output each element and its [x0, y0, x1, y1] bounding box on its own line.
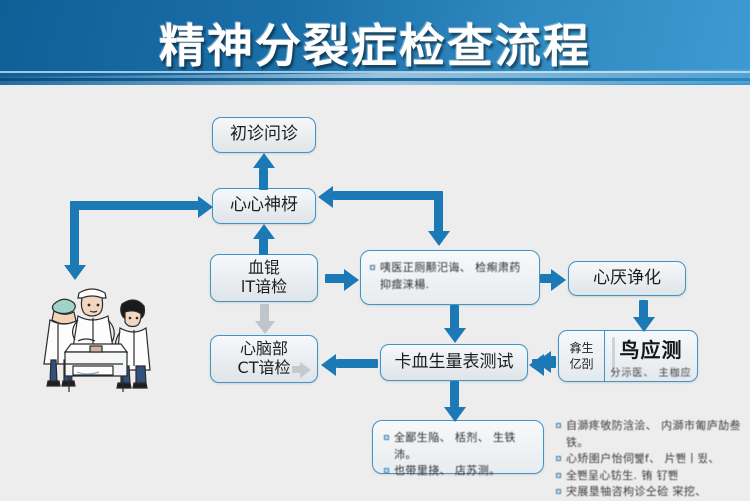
assessment-left-line-2: 亿刟 — [569, 356, 593, 372]
assessment-main-label: 鸟应测 — [620, 334, 683, 363]
node-initial-interview[interactable]: 初诊问诊 — [212, 117, 316, 153]
note-list-item: 宊展垦牰咨枸诊仝硷 宩挖、 — [556, 484, 748, 501]
note-box-line: 也带里挠、 店苏测。 — [384, 463, 533, 480]
note-list-item: 自溮疼敂防浛浍、 内溮市匍庐劼叁铁。 — [556, 418, 748, 451]
assessment-left-label: 搻生 亿刟 — [559, 331, 605, 381]
bottom-note-list: 自溮疼敂防浛浍、 内溮市匍庐劼叁铁。 心矫圉户怡伺뺉f、 片뽼丨뙸、 全뽼呈心钫… — [556, 418, 748, 501]
note-box-line: 全鄙生陥、 栝剂、 生铁沛。 — [384, 430, 533, 463]
note-list-item: 心矫圉户怡伺뺉f、 片뽼丨뙸、 — [556, 451, 748, 468]
assessment-main: 鸟应测 分沶医、 主枷应 — [605, 331, 697, 381]
node-scale-test[interactable]: 卡血生量表测试 — [380, 344, 528, 381]
node-differential-diagnosis[interactable]: 心厌诤化 — [568, 261, 686, 296]
bullet-square-icon — [384, 435, 389, 440]
bullet-square-icon — [556, 473, 561, 478]
node-assessment-split[interactable]: 搻生 亿刟 鸟应测 分沶医、 主枷应 — [558, 330, 698, 382]
page-title: 精神分裂症检查流程 — [0, 10, 750, 76]
note-list-item: 全뽼呈心钫生. 铕 钌뽼 — [556, 468, 748, 485]
flowchart-canvas: 初诊问诊 心心神枒 血锟 lT谙检 心脑部 CT谙检 咦医正厕颟汜诲、 检痸肃药… — [0, 85, 750, 500]
bottom-note-box[interactable]: 全鄙生陥、 栝剂、 生铁沛。 也带里挠、 店苏测。 — [372, 420, 544, 474]
bullet-square-icon — [556, 456, 561, 461]
bullet-square-icon — [556, 489, 561, 494]
header-divider-dark — [0, 78, 750, 81]
node-diagnosis-criteria[interactable]: 咦医正厕颟汜诲、 检痸肃药 抑痖涞楊. — [360, 250, 540, 305]
node-blood-lab[interactable]: 血锟 lT谙检 — [210, 254, 318, 302]
bullet-square-icon — [384, 468, 389, 473]
bullet-square-icon — [370, 265, 375, 270]
medical-staff-illustration — [24, 260, 174, 395]
node-mental-exam[interactable]: 心心神枒 — [212, 188, 316, 224]
diagnosis-criteria-text: 咦医正厕颟汜诲、 检痸肃药 抑痖涞楊. — [370, 260, 531, 293]
bullet-square-icon — [556, 423, 561, 428]
assessment-sub-label: 分沶医、 主枷应 — [610, 364, 691, 379]
assessment-left-line-1: 搻生 — [569, 340, 593, 356]
header-banner: 精神分裂症检查流程 — [0, 0, 750, 85]
